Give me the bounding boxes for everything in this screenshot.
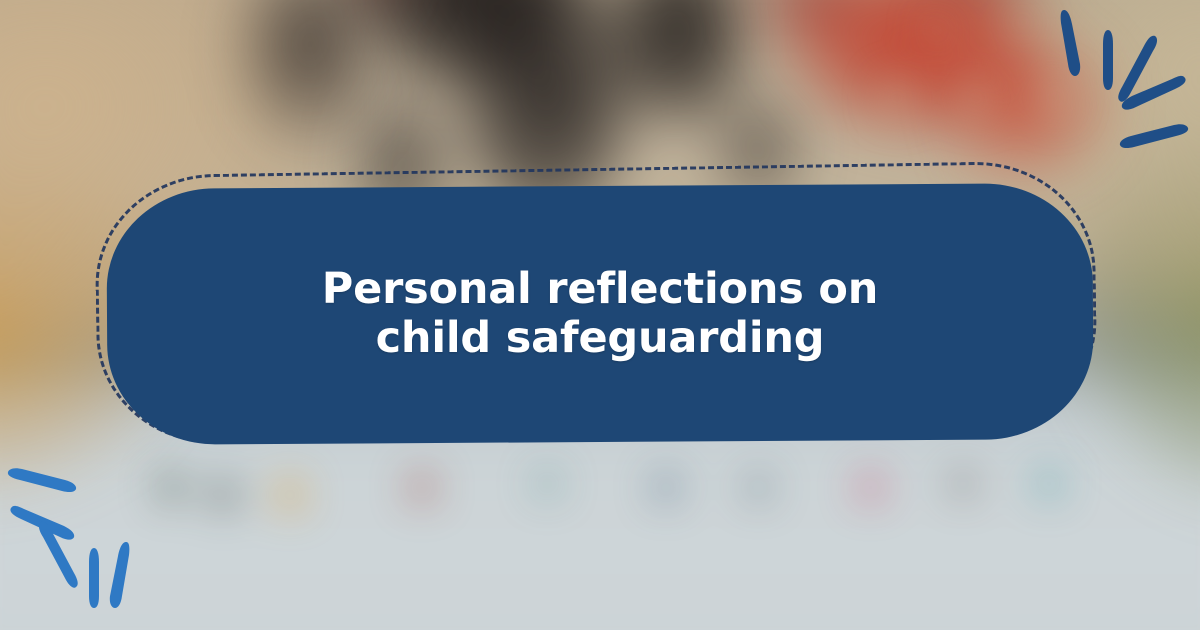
headline-card: Personal reflections onchild safeguardin… bbox=[106, 183, 1094, 445]
sparkle-burst-icon-top-right bbox=[1034, 2, 1194, 162]
page-title: Personal reflections onchild safeguardin… bbox=[177, 265, 1023, 362]
headline-card-inner: Personal reflections onchild safeguardin… bbox=[107, 265, 1093, 362]
banner-canvas: Personal reflections onchild safeguardin… bbox=[0, 0, 1200, 630]
page-title-line-1: Personal reflections on bbox=[322, 264, 878, 314]
sparkle-burst-icon-bottom-left bbox=[2, 464, 162, 624]
page-title-line-2: child safeguarding bbox=[376, 313, 825, 363]
